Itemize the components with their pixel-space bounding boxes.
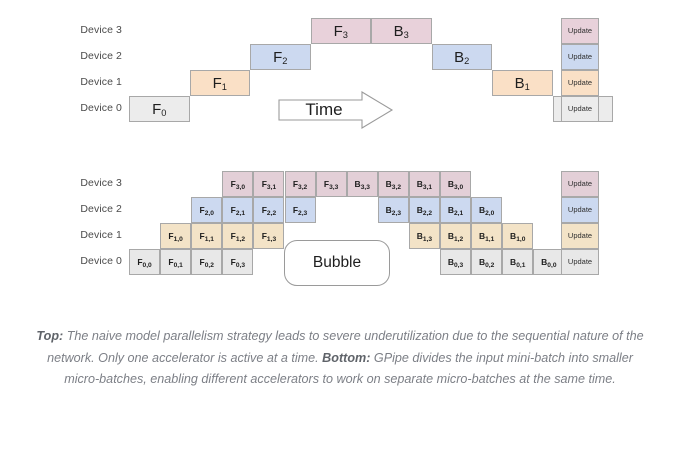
bottom-cell-f-3-0: F3,0 — [222, 171, 253, 197]
bottom-cell-b-3-2: B3,2 — [378, 171, 409, 197]
bottom-update-cell-3: Update — [561, 171, 599, 197]
bottom-cell-b-2-3: B2,3 — [378, 197, 409, 223]
bottom-cell-b-2-1: B2,1 — [440, 197, 471, 223]
bottom-cell-f-2-3: F2,3 — [285, 197, 316, 223]
caption-top-prefix: Top: — [36, 329, 63, 343]
bottom-cell-f-2-0: F2,0 — [191, 197, 222, 223]
bottom-cell-b-1-3: B1,3 — [409, 223, 440, 249]
bottom-cell-b-3-0: B3,0 — [440, 171, 471, 197]
bottom-cell-f-0-3: F0,3 — [222, 249, 253, 275]
figure-caption: Top: The naive model parallelism strateg… — [34, 326, 646, 391]
bottom-cell-f-2-1: F2,1 — [222, 197, 253, 223]
bottom-cell-f-3-1: F3,1 — [253, 171, 284, 197]
bottom-cell-b-0-2: B0,2 — [471, 249, 502, 275]
bottom-cell-f-0-2: F0,2 — [191, 249, 222, 275]
bottom-cell-f-0-1: F0,1 — [160, 249, 191, 275]
caption-bottom-prefix: Bottom: — [322, 351, 370, 365]
device-label-bottom-1: Device 1 — [60, 229, 122, 241]
device-label-bottom-2: Device 2 — [60, 203, 122, 215]
bottom-cell-f-1-0: F1,0 — [160, 223, 191, 249]
bottom-cell-f-1-3: F1,3 — [253, 223, 284, 249]
bubble-label: Bubble — [313, 254, 361, 272]
bottom-cell-f-3-2: F3,2 — [285, 171, 316, 197]
bottom-cell-b-2-2: B2,2 — [409, 197, 440, 223]
bottom-cell-b-1-0: B1,0 — [502, 223, 533, 249]
bubble-box: Bubble — [284, 240, 390, 286]
bottom-update-cell-0: Update — [561, 249, 599, 275]
bottom-cell-f-1-2: F1,2 — [222, 223, 253, 249]
bottom-cell-b-0-3: B0,3 — [440, 249, 471, 275]
bottom-cell-f-3-3: F3,3 — [316, 171, 347, 197]
bottom-cell-b-0-1: B0,1 — [502, 249, 533, 275]
device-label-bottom-3: Device 3 — [60, 177, 122, 189]
bottom-cell-b-1-2: B1,2 — [440, 223, 471, 249]
bottom-cell-b-2-0: B2,0 — [471, 197, 502, 223]
bottom-update-cell-1: Update — [561, 223, 599, 249]
bottom-cell-f-2-2: F2,2 — [253, 197, 284, 223]
bottom-cell-b-1-1: B1,1 — [471, 223, 502, 249]
bottom-cell-b-3-3: B3,3 — [347, 171, 378, 197]
figure-container: Device 3F3B3UpdateDevice 2F2B2UpdateDevi… — [0, 0, 679, 451]
bottom-cell-b-0-0: B0,0 — [533, 249, 564, 275]
bottom-update-cell-2: Update — [561, 197, 599, 223]
device-label-bottom-0: Device 0 — [60, 255, 122, 267]
bottom-cell-f-1-1: F1,1 — [191, 223, 222, 249]
bottom-cell-f-0-0: F0,0 — [129, 249, 160, 275]
bottom-cell-b-3-1: B3,1 — [409, 171, 440, 197]
